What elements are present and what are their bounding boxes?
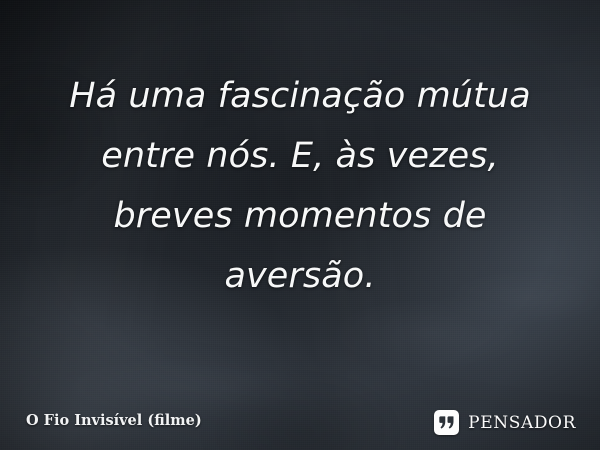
quote-line-1: Há uma fascinação mútua <box>28 66 572 126</box>
quote-card: Há uma fascinação mútua entre nós. E, às… <box>0 0 600 450</box>
pensador-logo[interactable]: PENSADOR <box>434 410 576 435</box>
quote-line-2: entre nós. E, às vezes, <box>28 126 572 186</box>
quote-author: O Fio Invisível (filme) <box>26 412 202 429</box>
quote-text: Há uma fascinação mútua entre nós. E, às… <box>28 66 572 306</box>
quote-marks-icon <box>434 410 459 435</box>
quote-line-3: breves momentos de <box>28 186 572 246</box>
quote-line-4: aversão. <box>28 246 572 306</box>
brand-name: PENSADOR <box>468 413 576 433</box>
